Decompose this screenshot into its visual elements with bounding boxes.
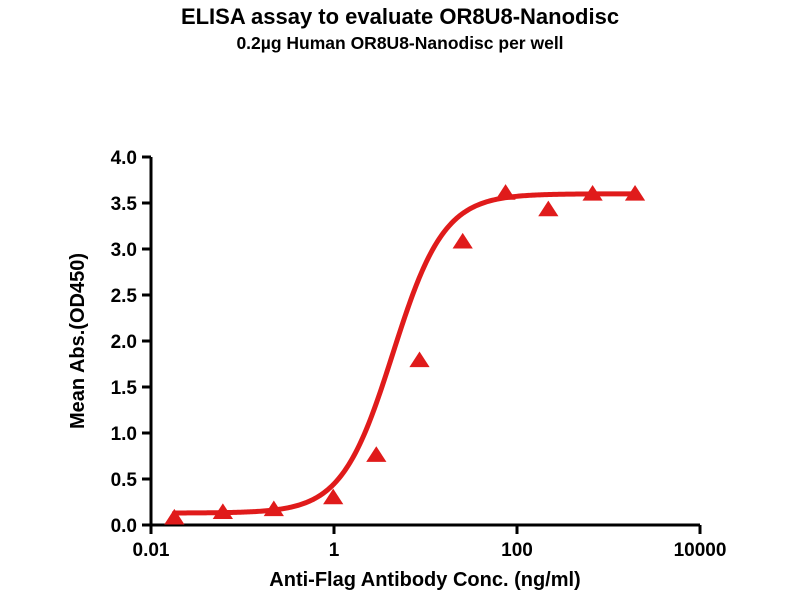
fit-curve (174, 194, 635, 513)
data-point-marker (538, 201, 558, 217)
x-tick-label: 10000 (674, 540, 727, 561)
data-point-marker (366, 446, 386, 462)
y-tick-label: 1.5 (111, 378, 138, 399)
axes-group (151, 157, 700, 525)
y-tick-label: 0.5 (111, 470, 138, 491)
y-tick-label: 3.5 (111, 194, 138, 215)
data-markers (164, 184, 645, 524)
y-tick-label: 1.0 (111, 424, 137, 445)
y-tick-label: 4.0 (111, 148, 137, 169)
data-point-marker (453, 233, 473, 249)
y-axis-ticks: 0.00.51.01.52.02.53.03.54.0 (111, 148, 151, 537)
x-tick-label: 100 (501, 540, 533, 561)
x-axis-ticks: 0.01110010000 (133, 525, 727, 561)
y-axis-title: Mean Abs.(OD450) (67, 253, 89, 429)
x-tick-label: 1 (329, 540, 340, 561)
chart-plot-area: 0.01110010000 0.00.51.01.52.02.53.03.54.… (0, 0, 800, 600)
y-tick-label: 3.0 (111, 240, 137, 261)
y-tick-label: 2.5 (111, 286, 138, 307)
data-point-marker (409, 352, 429, 368)
x-axis-title: Anti-Flag Antibody Conc. (ng/ml) (269, 569, 580, 591)
x-tick-label: 0.01 (133, 540, 170, 561)
y-tick-label: 0.0 (111, 516, 137, 537)
elisa-chart-figure: ELISA assay to evaluate OR8U8-Nanodisc 0… (0, 0, 800, 600)
y-tick-label: 2.0 (111, 332, 137, 353)
data-point-marker (495, 184, 515, 200)
